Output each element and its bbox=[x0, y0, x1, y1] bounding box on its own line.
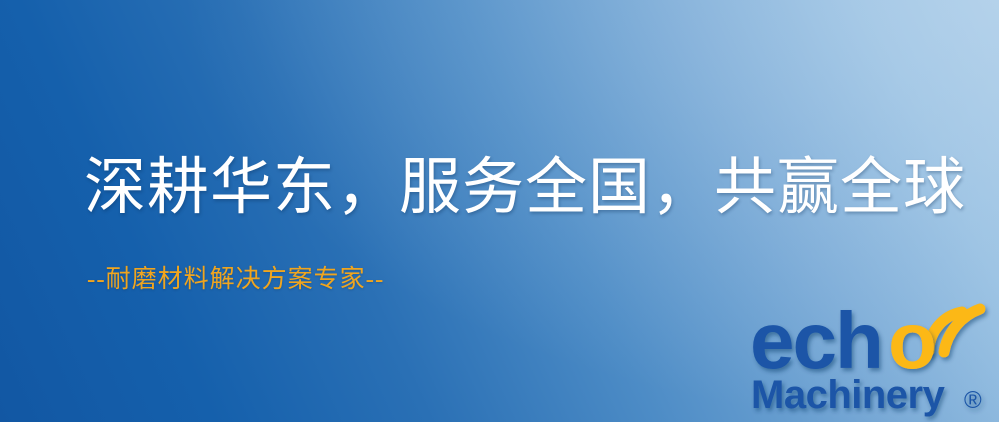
banner-headline: 深耕华东，服务全国，共赢全球 bbox=[84, 152, 966, 224]
echo-machinery-logo[interactable]: ech o Machinery ® bbox=[748, 296, 999, 422]
logo-tagline: Machinery bbox=[751, 373, 946, 417]
hero-banner: 深耕华东，服务全国，共赢全球 --耐磨材料解决方案专家-- ech o Mach… bbox=[0, 0, 999, 422]
logo-wordmark-ech: ech bbox=[750, 296, 882, 385]
logo-wordmark-o: o bbox=[888, 296, 937, 385]
banner-subtitle: --耐磨材料解决方案专家-- bbox=[87, 264, 384, 296]
logo-registered-icon: ® bbox=[964, 387, 982, 414]
